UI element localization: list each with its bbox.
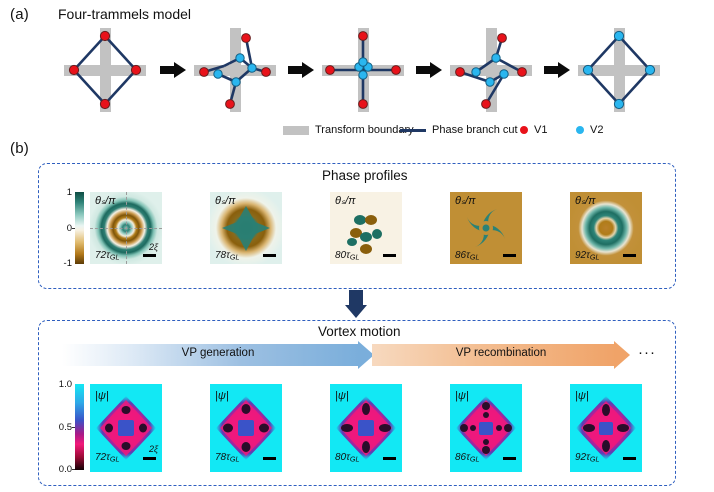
density-scalebar: [263, 457, 276, 461]
branch-cut-lines: [580, 24, 658, 116]
transition-arrow-3: [416, 62, 442, 78]
density-tile-78: |ψ| 78τGL: [210, 384, 282, 472]
vortex-motion-title: Vortex motion: [318, 324, 401, 339]
crosshair-horizontal: [90, 228, 162, 229]
density-cb-min: 0.0: [48, 464, 72, 475]
density-quantity-label: |ψ|: [575, 390, 589, 402]
panel-a-letter: (a): [10, 6, 29, 23]
legend-transform-boundary: Transform boundary: [283, 124, 414, 136]
legend-v2: V2: [576, 124, 603, 136]
vp-generation-label: VP generation: [62, 347, 374, 359]
phase-time-label-86: 86τGL: [455, 250, 479, 262]
density-quantity-label: |ψ|: [335, 390, 349, 402]
transition-arrow-2: [288, 62, 314, 78]
density-tile-80: |ψ| 80τGL: [330, 384, 402, 472]
phase-colorbar: [75, 192, 84, 264]
v2-dot-icon: [576, 126, 584, 134]
transform-boundary-swatch: [283, 126, 309, 135]
phase-scalebar: [263, 254, 276, 258]
vp-generation-arrow[interactable]: VP generation: [62, 344, 374, 366]
legend-label: V2: [590, 124, 603, 136]
trammel-state-4: [452, 24, 530, 116]
density-cb-tickmark: [72, 427, 75, 428]
arrow-shaft: [349, 290, 363, 306]
phase-scalebar: [143, 254, 156, 258]
v1-dot-icon: [520, 126, 528, 134]
phase-tile-80: θₛ/π 80τGL: [330, 192, 402, 264]
density-time-label-78: 78τGL: [215, 452, 239, 464]
arrow-tip: [345, 305, 367, 318]
panel-a-title: Four-trammels model: [58, 6, 191, 22]
phase-quantity-label: θₛ/π: [95, 194, 116, 207]
phase-tile-72: θₛ/π 72τGL 2ξ: [90, 192, 162, 264]
trammel-state-2: [196, 24, 274, 116]
density-scalebar: [143, 457, 156, 461]
legend-label: V1: [534, 124, 547, 136]
phase-scalebar: [503, 254, 516, 258]
legend-label: Phase branch cut: [432, 124, 518, 136]
phase-scalebar-label: 2ξ: [149, 242, 158, 252]
trammel-state-3: [324, 24, 402, 116]
vp-recombination-label: VP recombination: [372, 347, 630, 359]
phase-cb-min: -1: [51, 258, 72, 269]
phase-time-label-92: 92τGL: [575, 250, 599, 262]
phase-cb-mid: 0: [55, 223, 72, 234]
density-colorbar: [75, 384, 84, 470]
phase-quantity-label: θₛ/π: [575, 194, 596, 207]
density-cb-tickmark: [72, 469, 75, 470]
branch-cut-lines: [196, 24, 274, 116]
trammel-state-1: [66, 24, 144, 116]
phase-scalebar: [623, 254, 636, 258]
density-quantity-label: |ψ|: [95, 390, 109, 402]
density-scalebar: [383, 457, 396, 461]
phase-tile-92: θₛ/π 92τGL: [570, 192, 642, 264]
trammel-state-5: [580, 24, 658, 116]
phase-tile-86: θₛ/π 86τGL: [450, 192, 522, 264]
density-scalebar: [623, 457, 636, 461]
density-time-label-92: 92τGL: [575, 452, 599, 464]
phase-quantity-label: θₛ/π: [455, 194, 476, 207]
density-scalebar: [503, 457, 516, 461]
continuation-ellipsis: ···: [638, 344, 656, 361]
density-time-label-80: 80τGL: [335, 452, 359, 464]
phase-cb-max: 1: [55, 187, 72, 198]
phase-cb-tickmark: [72, 228, 75, 229]
panel-b-letter: (b): [10, 140, 29, 157]
phase-profiles-title: Phase profiles: [322, 168, 408, 183]
transition-arrow-4: [544, 62, 570, 78]
density-cb-mid: 0.5: [48, 422, 72, 433]
phase-time-label-72: 72τGL: [95, 250, 119, 262]
vp-recombination-arrow[interactable]: VP recombination: [372, 344, 630, 366]
phase-scalebar: [383, 254, 396, 258]
density-tile-86: |ψ| 86τGL: [450, 384, 522, 472]
phase-quantity-label: θₛ/π: [215, 194, 236, 207]
branch-cut-lines: [66, 24, 144, 116]
density-quantity-label: |ψ|: [215, 390, 229, 402]
phase-quantity-label: θₛ/π: [335, 194, 356, 207]
density-tile-72: |ψ| 72τGL 2ξ: [90, 384, 162, 472]
phase-time-label-80: 80τGL: [335, 250, 359, 262]
legend-label: Transform boundary: [315, 124, 414, 136]
phase-time-label-78: 78τGL: [215, 250, 239, 262]
branch-cut-lines: [324, 24, 402, 116]
legend-v1: V1: [520, 124, 547, 136]
density-cb-max: 1.0: [48, 379, 72, 390]
density-tile-92: |ψ| 92τGL: [570, 384, 642, 472]
branch-cut-lines: [452, 24, 530, 116]
transition-arrow-1: [160, 62, 186, 78]
phase-branch-cut-swatch: [400, 129, 426, 132]
legend-phase-branch-cut: Phase branch cut: [400, 124, 518, 136]
density-time-label-72: 72τGL: [95, 452, 119, 464]
density-quantity-label: |ψ|: [455, 390, 469, 402]
phase-tile-78: θₛ/π 78τGL: [210, 192, 282, 264]
density-time-label-86: 86τGL: [455, 452, 479, 464]
density-scalebar-label: 2ξ: [149, 444, 158, 454]
